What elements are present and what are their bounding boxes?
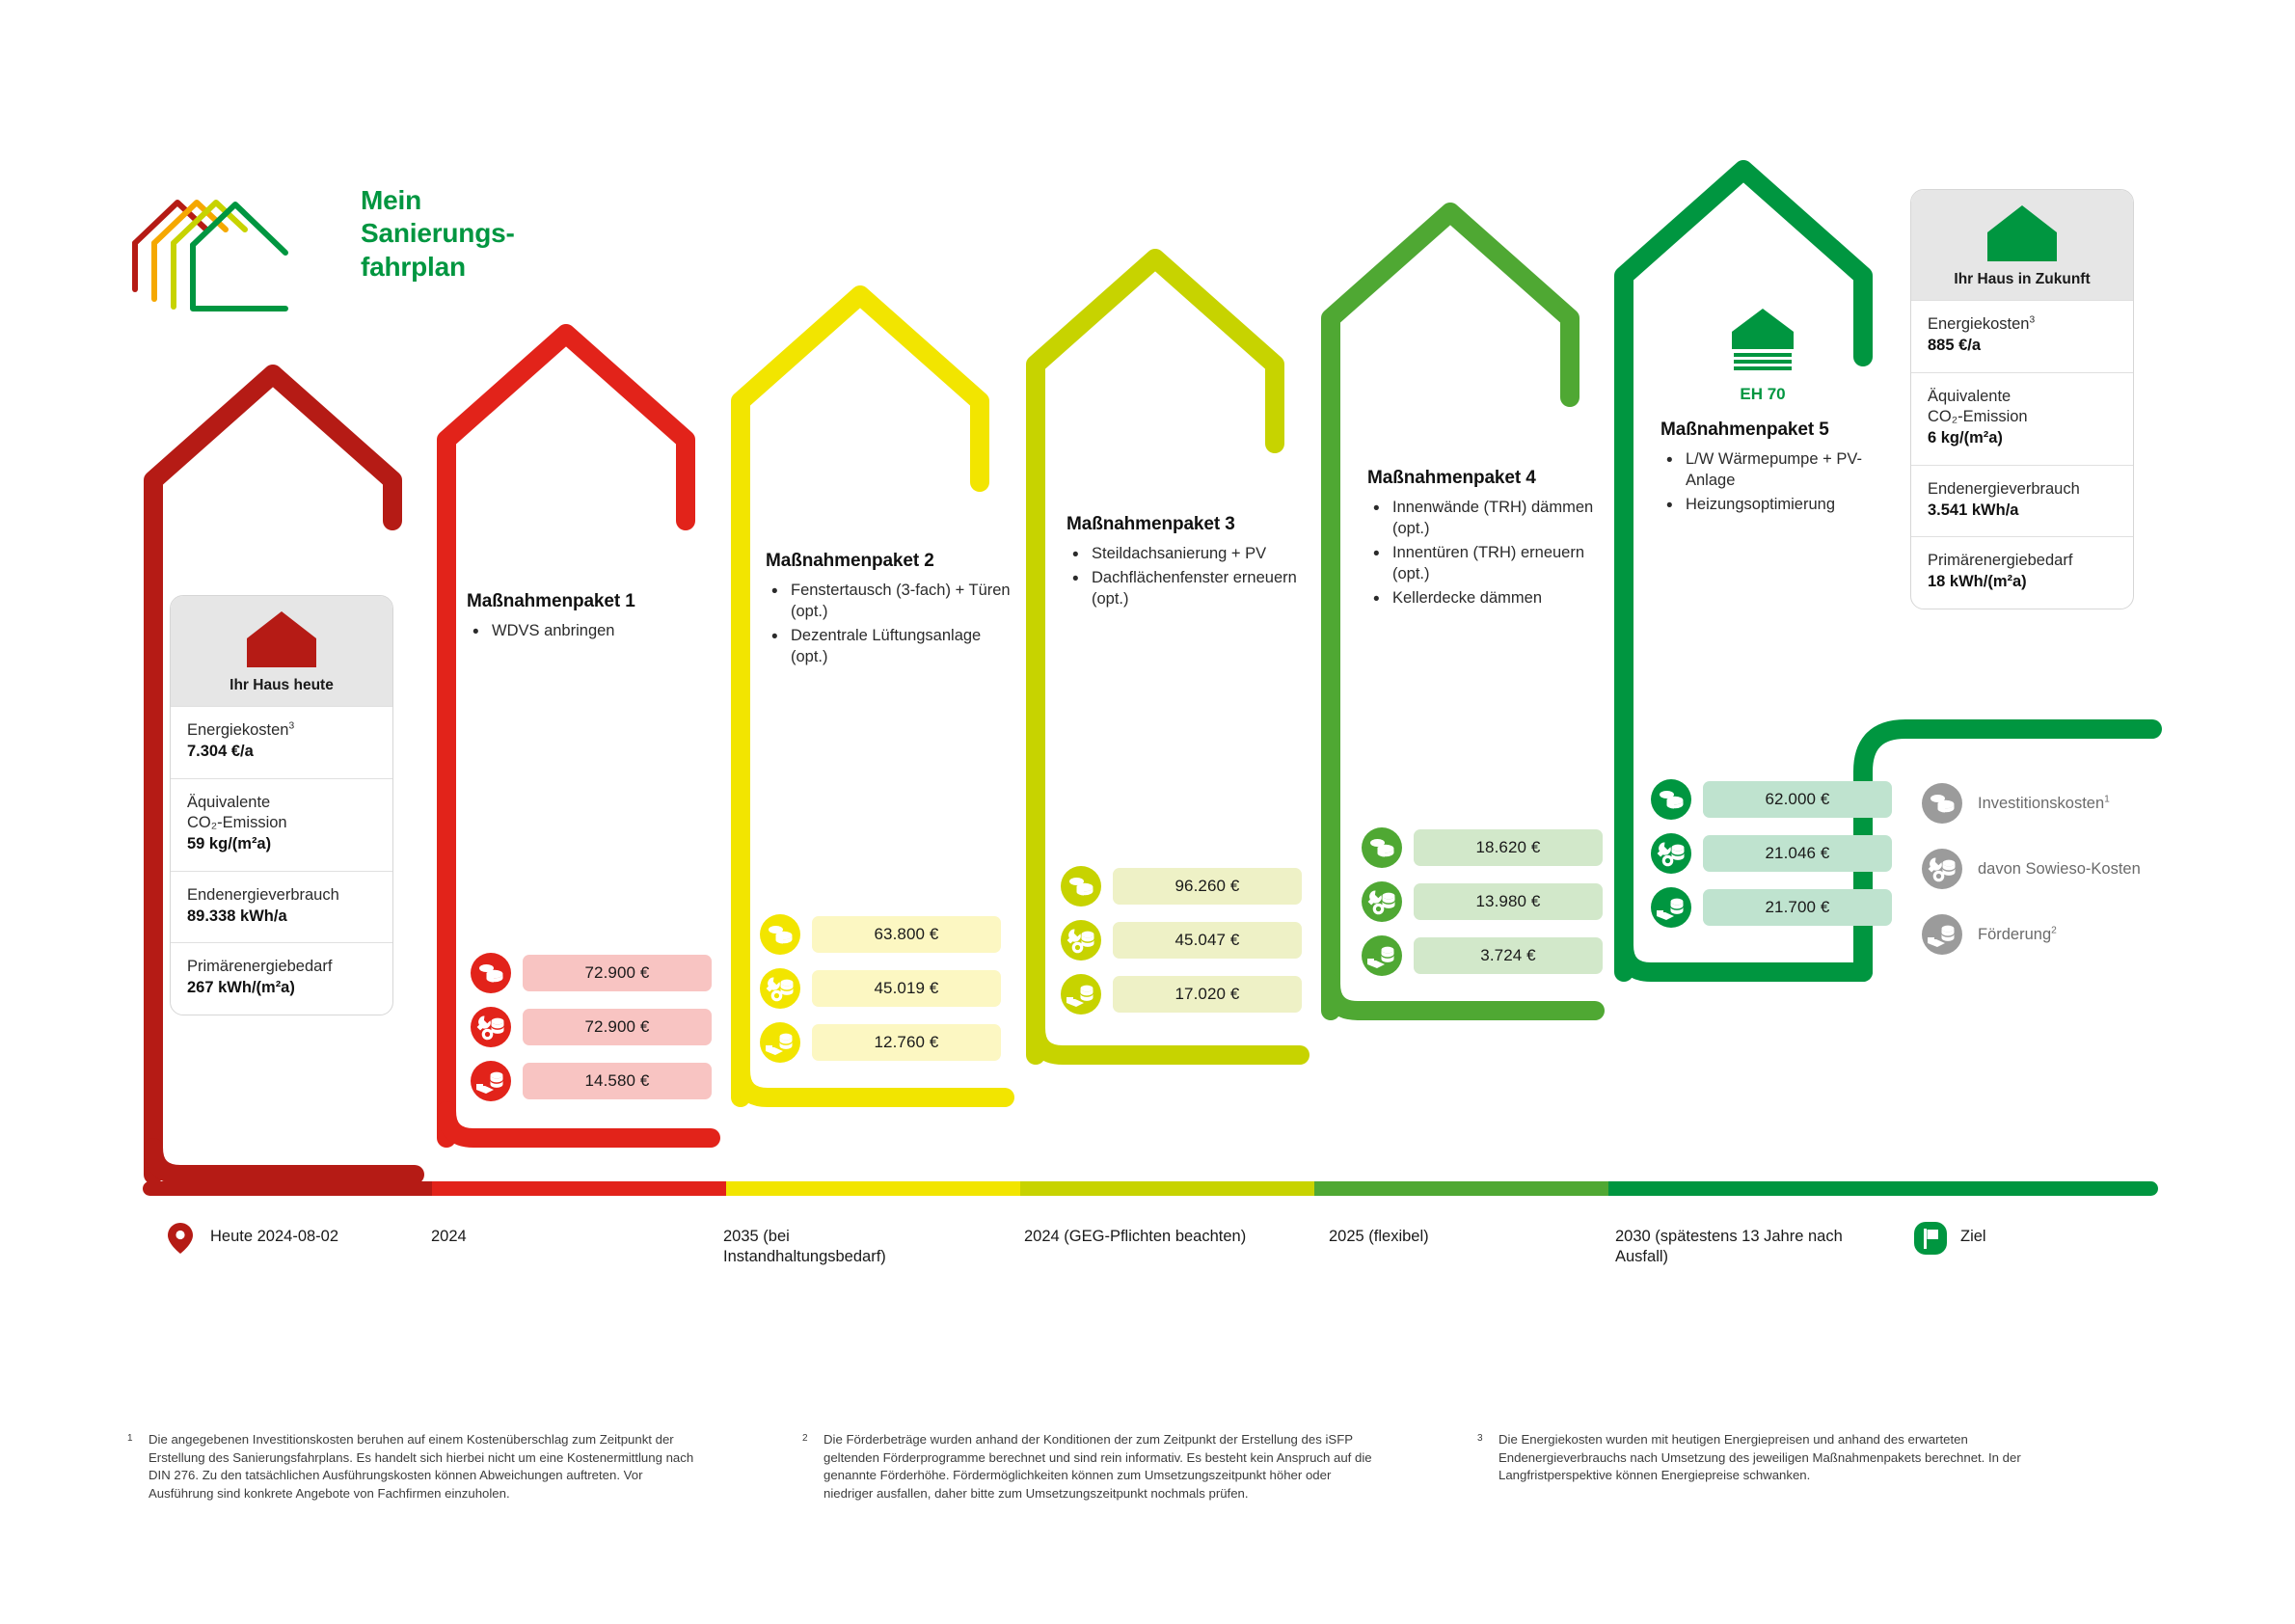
hand-coins-icon	[1922, 914, 1962, 955]
footnote-1: 1 Die angegebenen Investitionskosten ber…	[127, 1431, 706, 1503]
wrench-coins-icon	[760, 968, 800, 1009]
timeline-label-3: 2024 (GEG-Pflichten beachten)	[1024, 1227, 1284, 1247]
cost-row-foerderung: 21.700 €	[1651, 887, 1892, 928]
cost-legend: Investitionskosten1 davon Sowieso-Kosten	[1922, 783, 2240, 955]
cost-row-sowieso: 21.046 €	[1651, 833, 1892, 874]
package-measures-2: Fenstertausch (3-fach) + Türen (opt.) De…	[766, 581, 1016, 668]
house-icon-today	[245, 609, 318, 669]
cost-value-sowieso: 13.980 €	[1414, 883, 1603, 920]
metric-value: 18 kWh/(m²a)	[1928, 572, 2117, 593]
package-measures-4: Innenwände (TRH) dämmen (opt.) Innentüre…	[1367, 498, 1618, 609]
coins-stack-icon	[1922, 783, 1962, 824]
metric-label: Energiekosten	[1928, 315, 2030, 333]
footnote-text: Die Energiekosten wurden mit heutigen En…	[1498, 1431, 2056, 1485]
measure-item: Innenwände (TRH) dämmen (opt.)	[1367, 498, 1618, 540]
timeline-label-4: 2025 (flexibel)	[1329, 1227, 1551, 1247]
metric-label: Äquivalente	[1928, 388, 2011, 405]
package-title-4: Maßnahmenpaket 4	[1367, 468, 1618, 489]
coins-stack-icon	[471, 953, 511, 993]
timeline-today-label: Heute 2024-08-02	[210, 1222, 338, 1247]
logo-line-1: Mein	[361, 184, 515, 217]
timeline-segment-2	[726, 1181, 1020, 1196]
cost-value-sowieso: 45.047 €	[1113, 922, 1302, 959]
logo-line-3: fahrplan	[361, 251, 515, 284]
footnote-3: 3 Die Energiekosten wurden mit heutigen …	[1477, 1431, 2056, 1485]
timeline-segment-5	[1608, 1181, 2158, 1196]
package-block-1: Maßnahmenpaket 1 WDVS anbringen	[467, 591, 717, 645]
card-title-future: Ihr Haus in Zukunft	[1921, 271, 2123, 288]
metric-label: Primärenergiebedarf	[187, 958, 332, 975]
metric-label: Äquivalente	[187, 794, 270, 811]
metric-endenergie-future: Endenergieverbrauch 3.541 kWh/a	[1911, 465, 2133, 537]
metric-value: 59 kg/(m²a)	[187, 834, 376, 855]
house-foot-pkg2	[741, 1070, 1005, 1097]
cost-value-foerderung: 17.020 €	[1113, 976, 1302, 1013]
hand-coins-icon	[760, 1022, 800, 1063]
package-measures-1: WDVS anbringen	[467, 621, 717, 642]
metric-value: 267 kWh/(m²a)	[187, 978, 376, 999]
house-icon-future	[1985, 203, 2059, 263]
wrench-coins-icon	[1651, 833, 1691, 874]
cost-value-foerderung: 12.760 €	[812, 1024, 1001, 1061]
cost-value-investment: 63.800 €	[812, 916, 1001, 953]
hand-coins-icon	[1362, 935, 1402, 976]
metric-endenergie-today: Endenergieverbrauch 89.338 kWh/a	[171, 871, 392, 943]
wrench-coins-icon	[471, 1007, 511, 1047]
measure-item: Dachflächenfenster erneuern (opt.)	[1066, 568, 1317, 610]
timeline-segment-3	[1020, 1181, 1314, 1196]
legend-label: davon Sowieso-Kosten	[1978, 860, 2141, 879]
house-foot-today	[153, 1148, 415, 1175]
footnote-marker: 1	[127, 1431, 148, 1503]
metric-value: 6 kg/(m²a)	[1928, 428, 2117, 449]
cost-row-sowieso: 45.047 €	[1061, 920, 1302, 961]
coins-stack-icon	[1061, 866, 1101, 907]
measure-item: Innentüren (TRH) erneuern (opt.)	[1367, 543, 1618, 585]
wrench-coins-icon	[1362, 881, 1402, 922]
footnote-text: Die Förderbeträge wurden anhand der Kond…	[823, 1431, 1381, 1503]
package-title-3: Maßnahmenpaket 3	[1066, 514, 1317, 535]
measure-item: WDVS anbringen	[467, 621, 717, 642]
timeline-label-2: 2035 (bei Instandhaltungsbedarf)	[723, 1227, 945, 1268]
timeline-label-5: 2030 (spätestens 13 Jahre nach Ausfall)	[1615, 1227, 1880, 1268]
eh-label: EH 70	[1705, 385, 1821, 404]
cost-row-foerderung: 17.020 €	[1061, 974, 1302, 1015]
cost-row-foerderung: 12.760 €	[760, 1022, 1001, 1063]
footnote-marker: 2	[802, 1431, 823, 1503]
cost-value-investment: 18.620 €	[1414, 829, 1603, 866]
legend-label: Förderung2	[1978, 926, 2057, 944]
metric-energiekosten-future: Energiekosten3 885 €/a	[1911, 300, 2133, 372]
timeline-bar	[143, 1181, 2158, 1196]
card-header-today: Ihr Haus heute	[171, 596, 392, 706]
metric-value: 7.304 €/a	[187, 742, 376, 763]
cost-row-investment: 63.800 €	[760, 914, 1001, 955]
legend-text: Förderung	[1978, 926, 2051, 943]
timeline-goal-marker: Ziel	[1914, 1222, 1986, 1255]
cost-value-investment: 62.000 €	[1703, 781, 1892, 818]
cost-row-sowieso: 13.980 €	[1362, 881, 1603, 922]
package-measures-5: L/W Wärmepumpe + PV-Anlage Heizungsoptim…	[1660, 449, 1911, 516]
timeline-segment-1	[432, 1181, 726, 1196]
cost-row-foerderung: 14.580 €	[471, 1061, 712, 1101]
timeline-segment-4	[1314, 1181, 1608, 1196]
house-foot-pkg3	[1036, 1028, 1300, 1055]
cost-row-investment: 18.620 €	[1362, 827, 1603, 868]
metric-value: 885 €/a	[1928, 336, 2117, 357]
info-card-today: Ihr Haus heute Energiekosten3 7.304 €/a …	[170, 595, 393, 1015]
cost-row-investment: 96.260 €	[1061, 866, 1302, 907]
metric-label-2: CO₂-Emission	[187, 814, 287, 831]
package-title-1: Maßnahmenpaket 1	[467, 591, 717, 612]
measure-item: Kellerdecke dämmen	[1367, 588, 1618, 609]
measure-item: Fenstertausch (3-fach) + Türen (opt.)	[766, 581, 1016, 623]
cost-group-5: 62.000 € 21.046 € 21.70	[1651, 779, 1892, 928]
metric-value: 89.338 kWh/a	[187, 907, 376, 928]
package-block-3: Maßnahmenpaket 3 Steildachsanierung + PV…	[1066, 514, 1317, 613]
timeline-goal-label: Ziel	[1960, 1222, 1986, 1247]
cost-value-sowieso: 72.900 €	[523, 1009, 712, 1045]
package-block-2: Maßnahmenpaket 2 Fenstertausch (3-fach) …	[766, 551, 1016, 671]
cost-row-investment: 72.900 €	[471, 953, 712, 993]
legend-label: Investitionskosten1	[1978, 795, 2110, 813]
logo-text: Mein Sanierungs- fahrplan	[361, 184, 515, 284]
metric-co2-future: Äquivalente CO₂-Emission 6 kg/(m²a)	[1911, 372, 2133, 465]
measure-item: L/W Wärmepumpe + PV-Anlage	[1660, 449, 1911, 492]
metric-label: Endenergieverbrauch	[187, 886, 339, 904]
house-foot-pkg5	[1624, 945, 1863, 972]
cost-value-sowieso: 21.046 €	[1703, 835, 1892, 872]
cost-row-investment: 62.000 €	[1651, 779, 1892, 820]
cost-group-3: 96.260 € 45.047 € 17.02	[1061, 866, 1302, 1015]
logo-line-2: Sanierungs-	[361, 217, 515, 250]
logo: Mein Sanierungs- fahrplan	[121, 181, 430, 316]
footnote-ref: 2	[2051, 925, 2057, 935]
package-measures-3: Steildachsanierung + PV Dachflächenfenst…	[1066, 544, 1317, 610]
footnote-text: Die angegebenen Investitionskosten beruh…	[148, 1431, 706, 1503]
metric-label: Primärenergiebedarf	[1928, 552, 2072, 569]
metric-energiekosten-today: Energiekosten3 7.304 €/a	[171, 706, 392, 778]
info-card-future: Ihr Haus in Zukunft Energiekosten3 885 €…	[1910, 189, 2134, 609]
footnote-ref: 3	[2030, 315, 2036, 326]
card-header-future: Ihr Haus in Zukunft	[1911, 190, 2133, 300]
logo-houses-icon	[121, 181, 353, 316]
measure-item: Steildachsanierung + PV	[1066, 544, 1317, 565]
cost-value-investment: 96.260 €	[1113, 868, 1302, 905]
card-title-today: Ihr Haus heute	[180, 677, 383, 694]
cost-row-foerderung: 3.724 €	[1362, 935, 1603, 976]
coins-stack-icon	[1362, 827, 1402, 868]
package-title-5: Maßnahmenpaket 5	[1660, 420, 1911, 441]
timeline-today-marker: Heute 2024-08-02	[164, 1222, 338, 1255]
eh-badge: EH 70	[1705, 307, 1821, 404]
cost-value-foerderung: 21.700 €	[1703, 889, 1892, 926]
wrench-coins-icon	[1061, 920, 1101, 961]
cost-value-investment: 72.900 €	[523, 955, 712, 991]
metric-label: Endenergieverbrauch	[1928, 480, 2080, 498]
legend-item-investitionskosten: Investitionskosten1	[1922, 783, 2240, 824]
legend-item-sowieso-kosten: davon Sowieso-Kosten	[1922, 849, 2240, 889]
house-foot-pkg4	[1331, 984, 1595, 1011]
legend-item-foerderung: Förderung2	[1922, 914, 2240, 955]
coins-stack-icon	[760, 914, 800, 955]
footnote-2: 2 Die Förderbeträge wurden anhand der Ko…	[802, 1431, 1381, 1503]
metric-co2-today: Äquivalente CO₂-Emission 59 kg/(m²a)	[171, 778, 392, 871]
footnote-ref: 1	[2104, 794, 2110, 804]
package-block-5: Maßnahmenpaket 5 L/W Wärmepumpe + PV-Anl…	[1660, 420, 1911, 519]
cost-value-foerderung: 3.724 €	[1414, 937, 1603, 974]
timeline-label-1: 2024	[431, 1227, 653, 1247]
cost-group-4: 18.620 € 13.980 € 3.724	[1362, 827, 1603, 976]
cost-value-foerderung: 14.580 €	[523, 1063, 712, 1099]
footnote-ref: 3	[289, 721, 295, 732]
hand-coins-icon	[1061, 974, 1101, 1015]
metric-label: Energiekosten	[187, 721, 289, 739]
wrench-coins-icon	[1922, 849, 1962, 889]
location-pin-icon	[164, 1222, 197, 1255]
metric-value: 3.541 kWh/a	[1928, 501, 2117, 522]
cost-group-2: 63.800 € 45.019 € 12.76	[760, 914, 1001, 1063]
flag-icon	[1914, 1222, 1947, 1255]
cost-value-sowieso: 45.019 €	[812, 970, 1001, 1007]
package-title-2: Maßnahmenpaket 2	[766, 551, 1016, 572]
hand-coins-icon	[1651, 887, 1691, 928]
package-block-4: Maßnahmenpaket 4 Innenwände (TRH) dämmen…	[1367, 468, 1618, 612]
measure-item: Heizungsoptimierung	[1660, 495, 1911, 516]
metric-primaerenergie-today: Primärenergiebedarf 267 kWh/(m²a)	[171, 942, 392, 1015]
legend-text: davon Sowieso-Kosten	[1978, 860, 2141, 878]
cost-row-sowieso: 45.019 €	[760, 968, 1001, 1009]
footnote-marker: 3	[1477, 1431, 1498, 1485]
house-foot-pkg1	[446, 1111, 711, 1138]
metric-primaerenergie-future: Primärenergiebedarf 18 kWh/(m²a)	[1911, 536, 2133, 609]
coins-stack-icon	[1651, 779, 1691, 820]
cost-row-sowieso: 72.900 €	[471, 1007, 712, 1047]
metric-label-2: CO₂-Emission	[1928, 408, 2028, 425]
legend-text: Investitionskosten	[1978, 795, 2104, 812]
sanierungsfahrplan-infographic: Mein Sanierungs- fahrplan	[0, 0, 2295, 1624]
measure-item: Dezentrale Lüftungsanlage (opt.)	[766, 626, 1016, 668]
efficiency-house-icon	[1728, 307, 1797, 374]
cost-group-1: 72.900 € 72.900 € 14.58	[471, 953, 712, 1101]
hand-coins-icon	[471, 1061, 511, 1101]
timeline-segment-today	[143, 1181, 432, 1196]
